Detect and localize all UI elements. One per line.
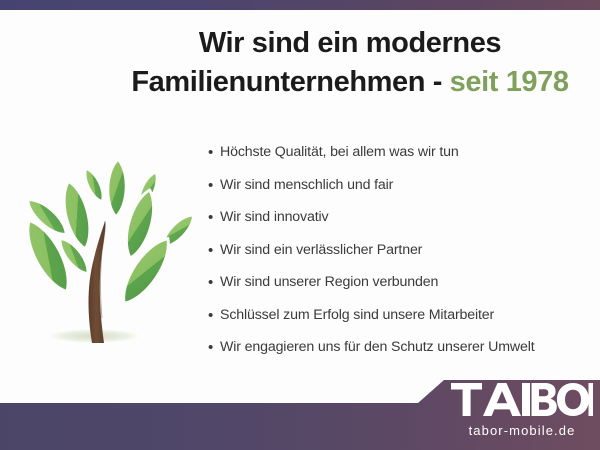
list-item: • Wir sind ein verlässlicher Partner: [208, 241, 598, 260]
bullet-point-icon: •: [208, 338, 220, 357]
bullet-point-icon: •: [208, 208, 220, 227]
headline-accent-year: seit 1978: [450, 66, 569, 98]
bullet-point-icon: •: [208, 176, 220, 195]
list-item: • Schlüssel zum Erfolg sind unsere Mitar…: [208, 306, 598, 325]
footer-bar: [0, 378, 600, 450]
bullet-point-icon: •: [208, 241, 220, 260]
list-item-label: Schlüssel zum Erfolg sind unsere Mitarbe…: [220, 306, 494, 325]
page-title: Wir sind ein modernes Familienunternehme…: [110, 24, 590, 101]
list-item: • Wir sind innovativ: [208, 208, 598, 227]
list-item: • Wir sind unserer Region verbunden: [208, 273, 598, 292]
value-bullet-list: • Höchste Qualität, bei allem was wir tu…: [208, 143, 598, 371]
bullet-point-icon: •: [208, 306, 220, 325]
list-item-label: Wir sind unserer Region verbunden: [220, 273, 438, 292]
headline-line-2-main: Familienunternehmen -: [131, 66, 449, 98]
headline-line-1: Wir sind ein modernes: [110, 24, 590, 63]
list-item: • Höchste Qualität, bei allem was wir tu…: [208, 143, 598, 162]
list-item-label: Wir engagieren uns für den Schutz unsere…: [220, 338, 535, 357]
list-item-label: Wir sind innovativ: [220, 208, 328, 227]
slide-canvas: Wir sind ein modernes Familienunternehme…: [0, 0, 600, 450]
list-item: • Wir sind menschlich und fair: [208, 176, 598, 195]
tree-illustration: [8, 138, 194, 360]
list-item-label: Wir sind menschlich und fair: [220, 176, 393, 195]
bullet-point-icon: •: [208, 273, 220, 292]
list-item-label: Höchste Qualität, bei allem was wir tun: [220, 143, 459, 162]
list-item: • Wir engagieren uns für den Schutz unse…: [208, 338, 598, 357]
bullet-point-icon: •: [208, 143, 220, 162]
headline-line-2: Familienunternehmen - seit 1978: [110, 63, 590, 102]
list-item-label: Wir sind ein verlässlicher Partner: [220, 241, 422, 260]
top-accent-bar: [0, 0, 600, 10]
